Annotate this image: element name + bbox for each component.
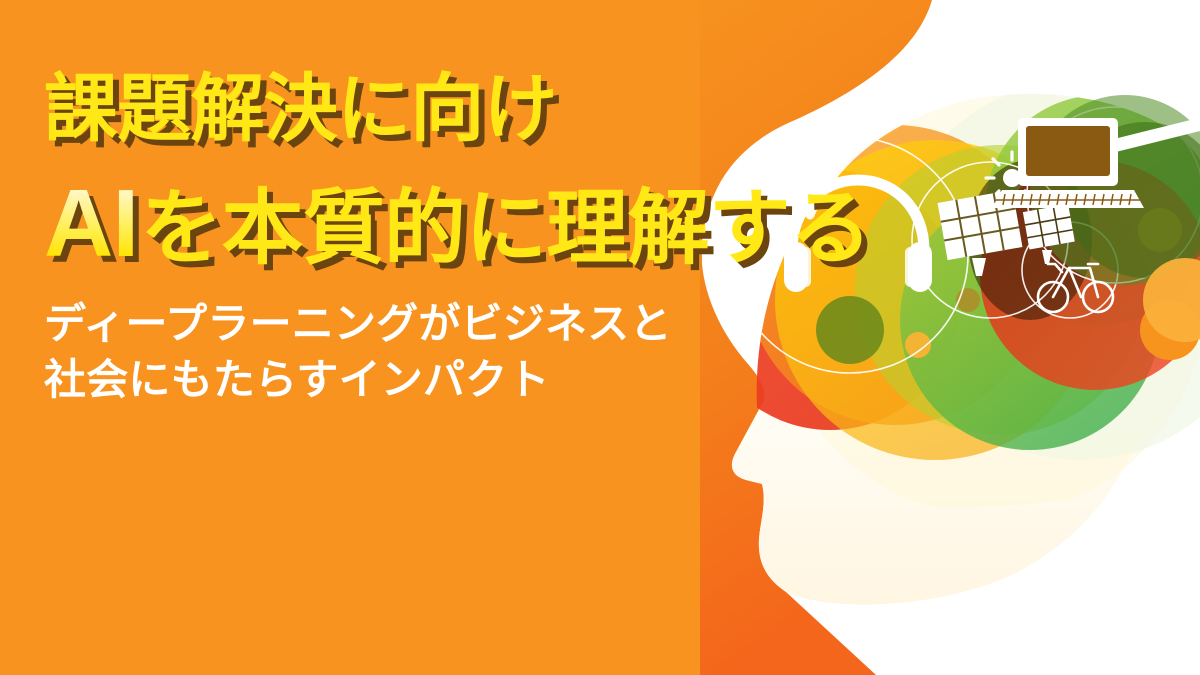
headline-accent-ai: AI: [44, 176, 140, 272]
slide-canvas: 課題解決に向け AI を本質的に理解する ディープラーニングがビジネスと 社会に…: [0, 0, 1200, 675]
subtitle-line-1: ディープラーニングがビジネスと: [44, 303, 672, 345]
subtitle-line-2: 社会にもたらすインパクト: [44, 359, 550, 401]
headline-line-2: AI を本質的に理解する: [44, 176, 871, 272]
headline-block: 課題解決に向け AI を本質的に理解する ディープラーニングがビジネスと 社会に…: [0, 0, 820, 675]
headline-line-2-rest: を本質的に理解する: [140, 188, 871, 270]
headline-line-1: 課題解決に向け: [44, 72, 557, 146]
